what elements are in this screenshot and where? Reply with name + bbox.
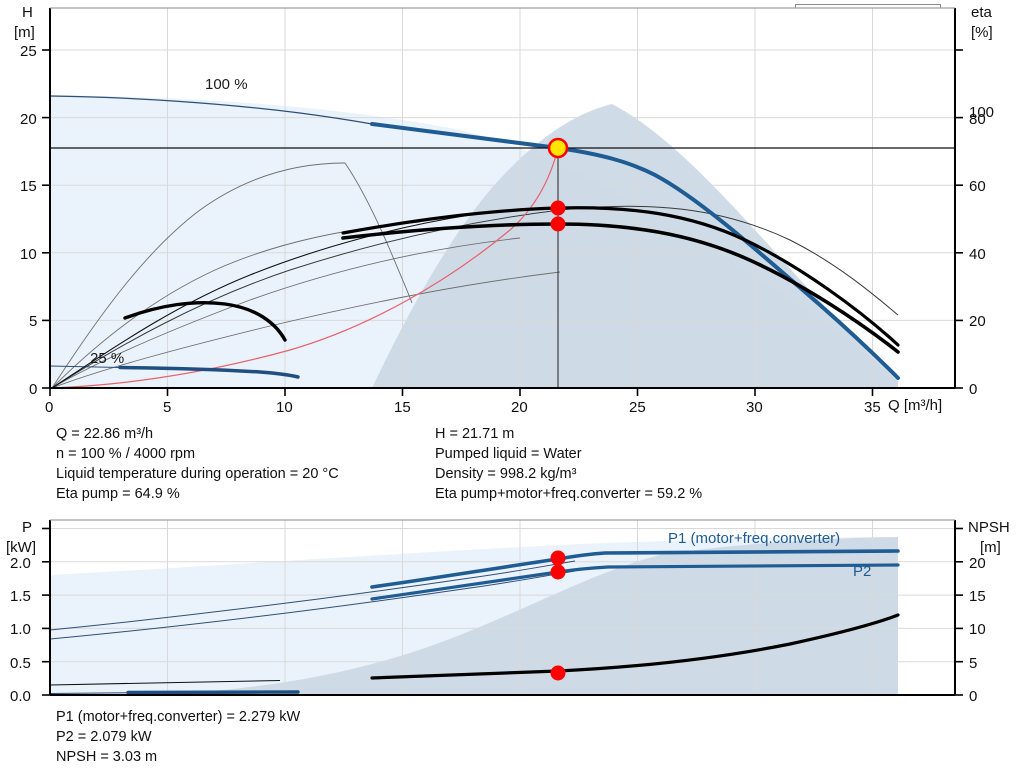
top-ytick-20: 20: [20, 111, 37, 128]
top-ytick-25: 25: [20, 43, 37, 60]
p1-lowspeed-curve: [128, 692, 298, 693]
top-xtick-0: 0: [45, 399, 53, 416]
info-left-line-4: Eta pump = 64.9 %: [56, 484, 339, 504]
top-xtick-5: 5: [163, 399, 171, 416]
top-ytick-15: 15: [20, 178, 37, 195]
duty-info-left: Q = 22.86 m³/h n = 100 % / 4000 rpm Liqu…: [56, 424, 339, 504]
bot-ytick-2.0: 2.0: [10, 555, 31, 572]
bot-ytick-1.5: 1.5: [10, 588, 31, 605]
eta-total-marker: [551, 217, 566, 232]
info-left-line-1: Q = 22.86 m³/h: [56, 424, 339, 444]
annotation-100-percent: 100 %: [205, 77, 248, 92]
top-y2tick-100: 100: [969, 104, 994, 121]
top-xtick-35: 35: [864, 399, 881, 416]
bot-y2tick-5: 5: [969, 655, 977, 672]
eta-pump-marker: [551, 201, 566, 216]
p2-duty-marker: [551, 565, 566, 580]
top-ytick-5: 5: [29, 313, 37, 330]
annotation-25-percent: 25 %: [90, 351, 124, 366]
info-right-line-4: Eta pump+motor+freq.converter = 59.2 %: [435, 484, 702, 504]
top-ytick-0: 0: [29, 381, 37, 398]
bottom-info-line-1: P1 (motor+freq.converter) = 2.279 kW: [56, 707, 300, 727]
top-xtick-10: 10: [276, 399, 293, 416]
duty-point-marker: [549, 139, 567, 157]
power-info-block: P1 (motor+freq.converter) = 2.279 kW P2 …: [56, 707, 300, 767]
info-left-line-3: Liquid temperature during operation = 20…: [56, 464, 339, 484]
info-right-line-3: Density = 998.2 kg/m³: [435, 464, 702, 484]
bottom-chart-left-ticks: [42, 529, 50, 696]
top-chart-left-ticks: [42, 50, 50, 388]
top-xtick-30: 30: [746, 399, 763, 416]
p1-lowspeed-thin: [50, 693, 128, 694]
top-y2tick-60: 60: [969, 178, 986, 195]
info-left-line-2: n = 100 % / 4000 rpm: [56, 444, 339, 464]
bot-y2tick-0: 0: [969, 688, 977, 705]
bot-ytick-0.0: 0.0: [10, 688, 31, 705]
top-chart-right-ticks: [955, 50, 963, 388]
top-xtick-20: 20: [511, 399, 528, 416]
info-right-line-2: Pumped liquid = Water: [435, 444, 702, 464]
top-y2tick-0: 0: [969, 381, 977, 398]
bottom-info-line-2: P2 = 2.079 kW: [56, 727, 300, 747]
bot-y2tick-15: 15: [969, 588, 986, 605]
p2-curve-label: P2: [853, 564, 871, 579]
top-xtick-15: 15: [394, 399, 411, 416]
top-xtick-25: 25: [629, 399, 646, 416]
bottom-info-line-3: NPSH = 3.03 m: [56, 747, 300, 767]
top-ytick-10: 10: [20, 246, 37, 263]
top-chart-bottom-ticks: [50, 388, 873, 396]
duty-info-right: H = 21.71 m Pumped liquid = Water Densit…: [435, 424, 702, 504]
p1-duty-marker: [551, 551, 566, 566]
bot-ytick-1.0: 1.0: [10, 621, 31, 638]
bot-y2tick-20: 20: [969, 555, 986, 572]
pump-curve-page: CRE 20-1, 3*460 V H [m] eta [%] Q [m³/h]: [0, 0, 1024, 781]
top-y2tick-40: 40: [969, 246, 986, 263]
head-efficiency-chart: [0, 0, 1024, 420]
bot-y2tick-10: 10: [969, 621, 986, 638]
bottom-chart-right-ticks: [955, 529, 963, 696]
npsh-duty-marker: [551, 666, 566, 681]
bot-ytick-0.5: 0.5: [10, 655, 31, 672]
info-right-line-1: H = 21.71 m: [435, 424, 702, 444]
top-y2tick-20: 20: [969, 313, 986, 330]
power-npsh-chart: [0, 515, 1024, 700]
p1-curve-label: P1 (motor+freq.converter): [668, 531, 840, 546]
